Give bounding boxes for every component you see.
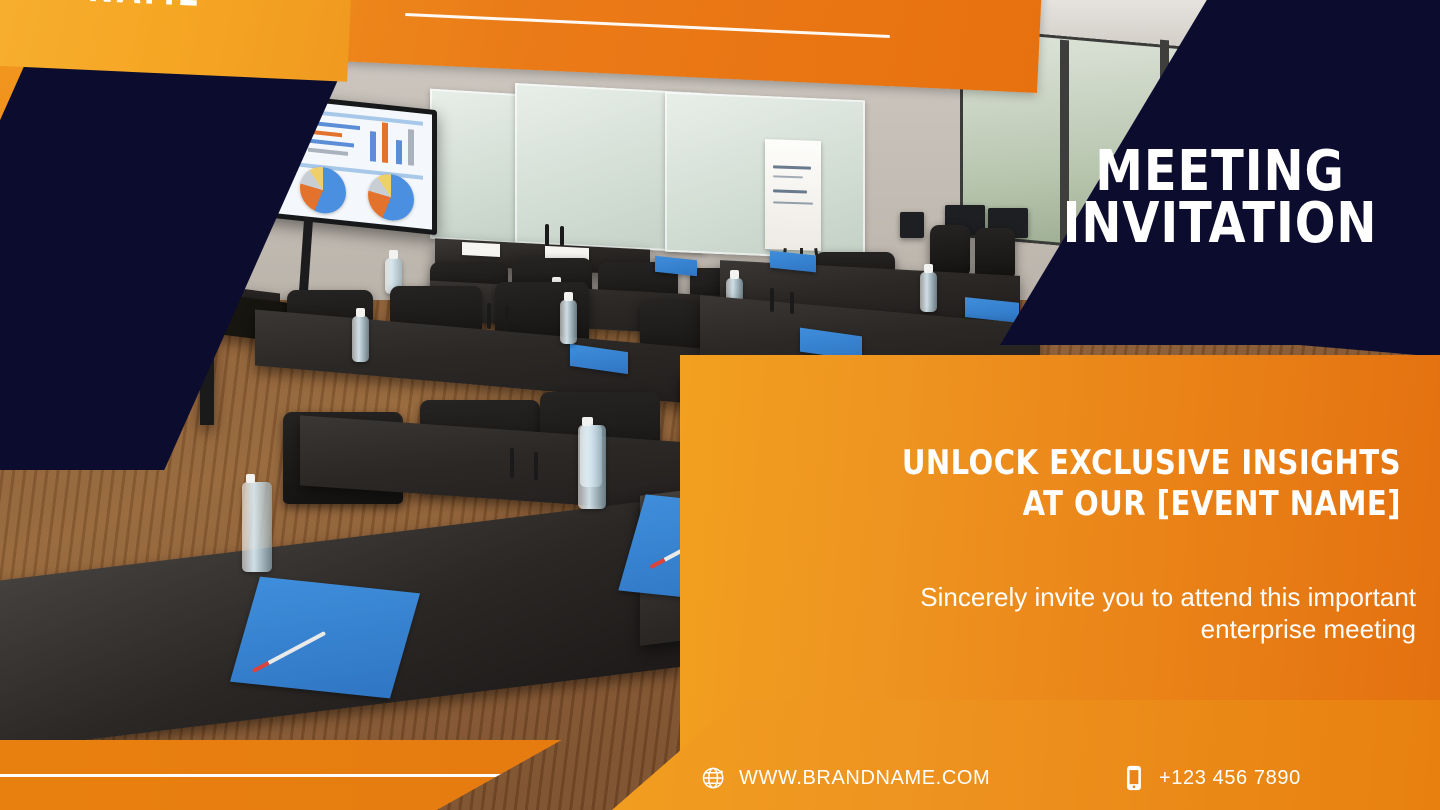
headline: UNLOCK EXCLUSIVE INSIGHTS AT OUR [EVENT … [831,443,1401,526]
sheet-line [773,165,811,169]
microphone [790,292,794,314]
bar [382,122,388,163]
sheet-line [773,189,807,193]
pie-chart [368,172,414,223]
website-contact[interactable]: WWW.BRANDNAME.COM [700,764,990,792]
microphone [545,224,549,246]
h-bar [308,148,348,156]
website-text: WWW.BRANDNAME.COM [739,767,990,790]
headline-line-2: AT OUR [EVENT NAME] [831,484,1401,525]
phone-text: +123 456 7890 [1159,767,1301,790]
subtext-line-2: enterprise meeting [816,614,1416,646]
pie-chart [300,165,346,216]
headline-line-1: UNLOCK EXCLUSIVE INSIGHTS [831,443,1401,484]
h-bar [308,139,354,148]
microphone [534,452,538,480]
equipment-box [900,212,924,238]
flipchart-sheet [765,139,821,251]
microphone [510,448,514,478]
title-line-1: MEETING [1030,146,1410,198]
bar [396,140,402,165]
subtext: Sincerely invite you to attend this impo… [816,582,1416,645]
title-line-2: INVITATION [1030,198,1410,250]
sheet-line [773,175,803,178]
globe-icon [700,764,728,792]
microphone [505,306,509,330]
page-title: MEETING INVITATION [1030,146,1410,249]
chair [930,225,970,275]
blue-folder [230,577,420,699]
meeting-invitation-poster: BRANDNAME MEETING INVITATION UNLOCK EXCL… [0,0,1440,810]
footer-rule [0,774,560,777]
microphone [487,303,491,329]
sheet-line [773,201,813,204]
chair [975,228,1015,278]
microphone [560,226,564,246]
water-bottle [560,300,577,344]
water-bottle [242,482,272,572]
water-bottle [578,425,606,509]
microphone [770,288,774,312]
water-bottle [920,272,937,312]
bar [370,131,376,162]
mobile-phone-icon [1120,764,1148,792]
water-bottle [352,316,369,362]
name-placard [462,242,500,257]
phone-contact[interactable]: +123 456 7890 [1120,764,1301,792]
subtext-line-1: Sincerely invite you to attend this impo… [816,582,1416,614]
brand-name: BRANDNAME [0,0,203,15]
bar [408,129,414,166]
